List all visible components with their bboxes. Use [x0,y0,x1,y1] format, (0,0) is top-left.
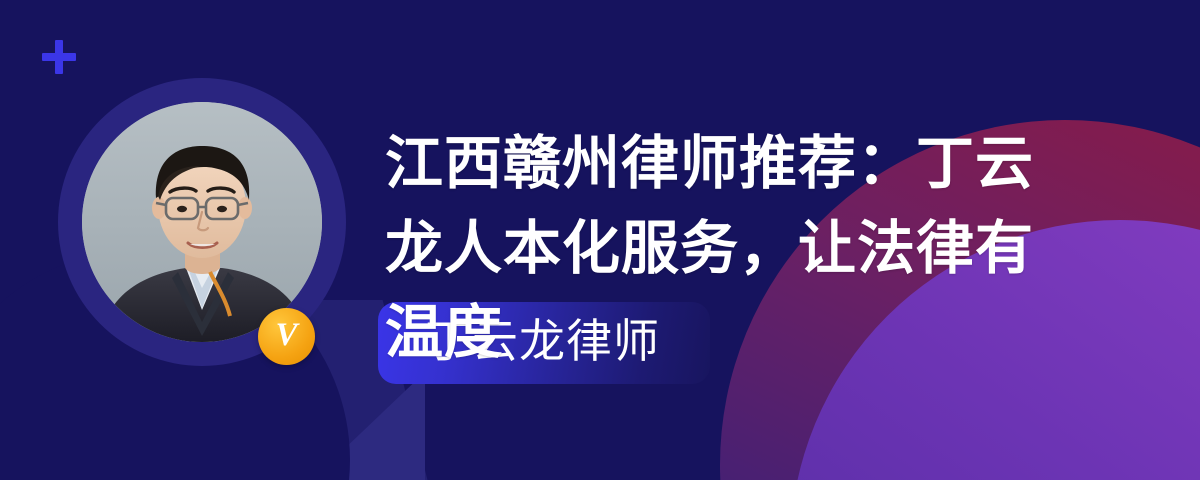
avatar: V [58,78,346,366]
verified-badge-icon: V [258,308,315,365]
headline-title: 江西赣州律师推荐：丁云龙人本化服务，让法律有温度 [385,122,1085,376]
verified-badge-mark: V [275,319,297,352]
plus-icon [42,40,76,74]
avatar-photo [82,102,322,342]
promo-banner: V 江西赣州律师推荐：丁云龙人本化服务，让法律有温度 丁云龙律师 [0,0,1200,480]
